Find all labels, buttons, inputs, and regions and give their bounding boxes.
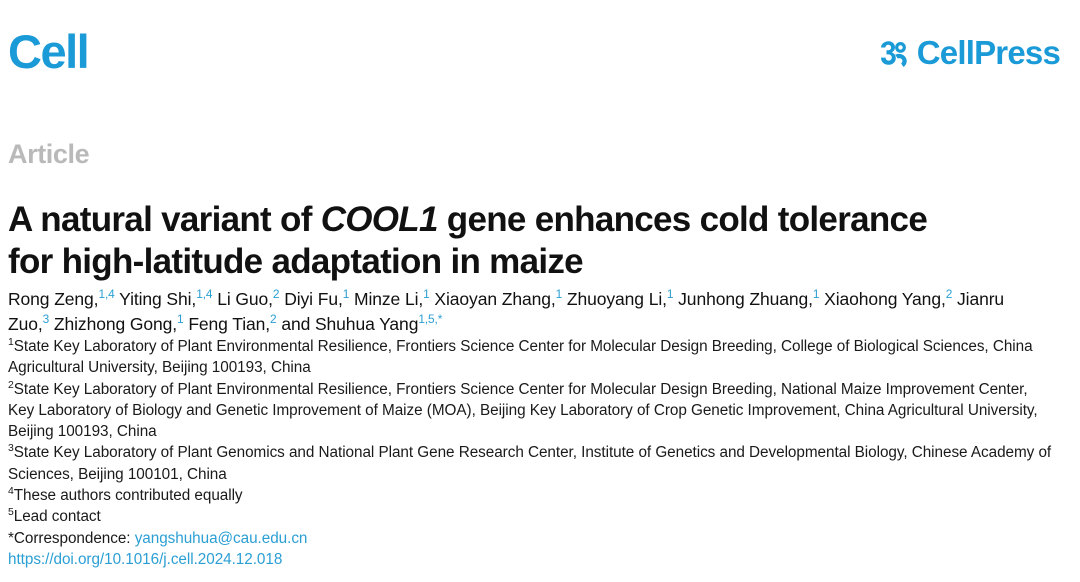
author-name: Zhuoyang Li,: [567, 289, 667, 309]
author-affiliation-marker: 1: [813, 287, 820, 301]
author-name: Minze Li,: [354, 289, 423, 309]
author-affiliation-marker: 1: [423, 287, 430, 301]
affiliation-1: 1State Key Laboratory of Plant Environme…: [8, 336, 1053, 379]
author-affiliation-marker: 1: [556, 287, 563, 301]
footnote-text-4: These authors contributed equally: [14, 487, 243, 504]
author-affiliation-marker: 1: [343, 287, 350, 301]
article-type-label: Article: [8, 140, 89, 170]
affiliation-list: 1State Key Laboratory of Plant Environme…: [8, 336, 1053, 570]
page-title: A natural variant of COOL1 gene enhances…: [8, 199, 968, 283]
author-affiliation-marker: 1: [667, 287, 674, 301]
author-name: Zhizhong Gong,: [54, 314, 177, 334]
footnote-4: 4These authors contributed equally: [8, 485, 1053, 506]
author-affiliation-marker: 1,4: [196, 287, 212, 301]
masthead: Cell CellPress: [0, 24, 1080, 86]
title-part-1: A natural variant of: [8, 200, 321, 239]
author-name: Xiaoyan Zhang,: [434, 289, 555, 309]
footnote-text-5: Lead contact: [14, 508, 101, 525]
author-affiliation-marker: 2: [270, 312, 277, 326]
affiliation-text-3: State Key Laboratory of Plant Genomics a…: [8, 444, 1051, 482]
doi-link[interactable]: https://doi.org/10.1016/j.cell.2024.12.0…: [8, 551, 282, 568]
correspondence-email-link[interactable]: yangshuhua@cau.edu.cn: [135, 530, 308, 547]
author-name: Li Guo,: [217, 289, 273, 309]
title-gene-name: COOL1: [321, 200, 438, 239]
affiliation-text-1: State Key Laboratory of Plant Environmen…: [8, 338, 1033, 376]
author-name: Junhong Zhuang,: [678, 289, 813, 309]
affiliation-3: 3State Key Laboratory of Plant Genomics …: [8, 442, 1053, 485]
cellpress-publisher-logo[interactable]: CellPress: [879, 36, 1060, 69]
cellpress-loops-icon: [879, 38, 909, 68]
author-affiliation-marker: 1,5,*: [418, 312, 442, 326]
author-name: Xiaohong Yang,: [824, 289, 946, 309]
correspondence-line: *Correspondence: yangshuhua@cau.edu.cn: [8, 528, 1053, 549]
footnote-5: 5Lead contact: [8, 506, 1053, 527]
author-name: Diyi Fu,: [284, 289, 343, 309]
affiliation-text-2: State Key Laboratory of Plant Environmen…: [8, 381, 1038, 441]
author-name: and Shuhua Yang: [281, 314, 418, 334]
author-affiliation-marker: 1: [177, 312, 184, 326]
affiliation-2: 2State Key Laboratory of Plant Environme…: [8, 379, 1053, 443]
cellpress-wordmark: CellPress: [917, 36, 1060, 69]
author-affiliation-marker: 1,4: [98, 287, 114, 301]
article-header-page: Cell CellPress Article A natural variant…: [0, 0, 1080, 582]
author-list: Rong Zeng,1,4 Yiting Shi,1,4 Li Guo,2 Di…: [8, 287, 1028, 337]
author-affiliation-marker: 2: [946, 287, 953, 301]
correspondence-label: *Correspondence:: [8, 530, 135, 547]
doi-line: https://doi.org/10.1016/j.cell.2024.12.0…: [8, 549, 1053, 570]
author-affiliation-marker: 3: [43, 312, 50, 326]
author-name: Yiting Shi,: [119, 289, 196, 309]
cell-journal-logo[interactable]: Cell: [8, 28, 88, 75]
author-name: Feng Tian,: [188, 314, 270, 334]
author-name: Rong Zeng,: [8, 289, 98, 309]
author-affiliation-marker: 2: [273, 287, 280, 301]
